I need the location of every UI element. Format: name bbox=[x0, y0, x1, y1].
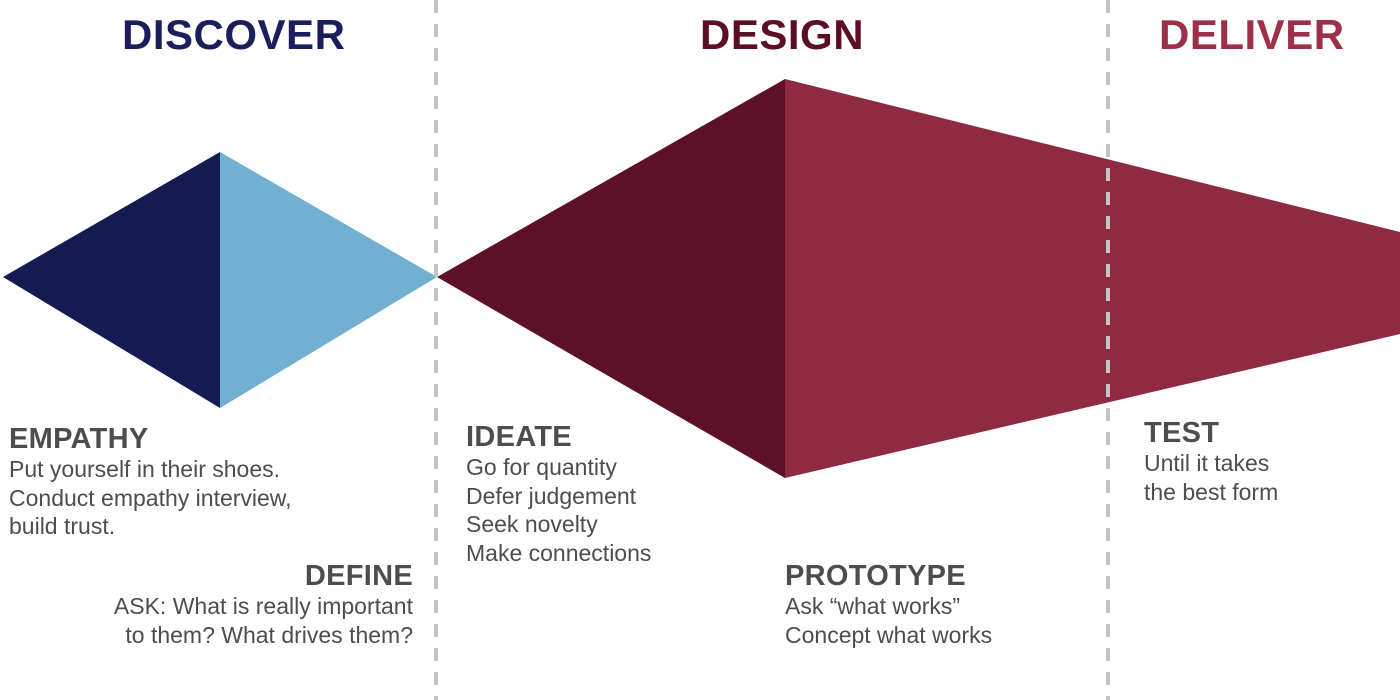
deliver-wedge-light bbox=[785, 79, 1400, 478]
stage-heading-empathy: EMPATHY bbox=[9, 424, 292, 455]
stage-body-line: Until it takes bbox=[1144, 449, 1278, 478]
stage-body-line: Put yourself in their shoes. bbox=[9, 455, 292, 484]
stage-body-line: Make connections bbox=[466, 539, 651, 568]
stage-body-empathy: Put yourself in their shoes. Conduct emp… bbox=[9, 455, 292, 541]
stage-body-line: build trust. bbox=[9, 512, 292, 541]
stage-body-test: Until it takes the best form bbox=[1144, 449, 1278, 506]
stage-body-line: Defer judgement bbox=[466, 482, 651, 511]
stage-body-line: Go for quantity bbox=[466, 453, 651, 482]
discover-diamond-right-half bbox=[220, 152, 437, 408]
stage-body-line: to them? What drives them? bbox=[9, 621, 413, 650]
stage-body-line: the best form bbox=[1144, 478, 1278, 507]
stage-test: TEST Until it takes the best form bbox=[1144, 418, 1278, 506]
stage-prototype: PROTOTYPE Ask “what works” Concept what … bbox=[785, 561, 992, 649]
stage-body-prototype: Ask “what works” Concept what works bbox=[785, 592, 992, 649]
stage-define: DEFINE ASK: What is really important to … bbox=[9, 561, 413, 649]
stage-heading-test: TEST bbox=[1144, 418, 1278, 449]
stage-body-ideate: Go for quantity Defer judgement Seek nov… bbox=[466, 453, 651, 567]
phase-title-discover: DISCOVER bbox=[122, 14, 345, 56]
phase-title-deliver: DELIVER bbox=[1159, 14, 1345, 56]
phase-title-design: DESIGN bbox=[700, 14, 864, 56]
stage-ideate: IDEATE Go for quantity Defer judgement S… bbox=[466, 422, 651, 567]
stage-heading-prototype: PROTOTYPE bbox=[785, 561, 992, 592]
stage-body-define: ASK: What is really important to them? W… bbox=[9, 592, 413, 649]
design-wedge-dark bbox=[437, 79, 785, 478]
stage-body-line: Conduct empathy interview, bbox=[9, 484, 292, 513]
discover-diamond-left-half bbox=[3, 152, 220, 408]
stage-heading-define: DEFINE bbox=[9, 561, 413, 592]
stage-heading-ideate: IDEATE bbox=[466, 422, 651, 453]
stage-body-line: Seek novelty bbox=[466, 510, 651, 539]
double-diamond-diagram: DISCOVER DESIGN DELIVER EMPATHY Put your… bbox=[0, 0, 1400, 700]
stage-body-line: ASK: What is really important bbox=[9, 592, 413, 621]
stage-empathy: EMPATHY Put yourself in their shoes. Con… bbox=[9, 424, 292, 541]
stage-body-line: Ask “what works” bbox=[785, 592, 992, 621]
stage-body-line: Concept what works bbox=[785, 621, 992, 650]
